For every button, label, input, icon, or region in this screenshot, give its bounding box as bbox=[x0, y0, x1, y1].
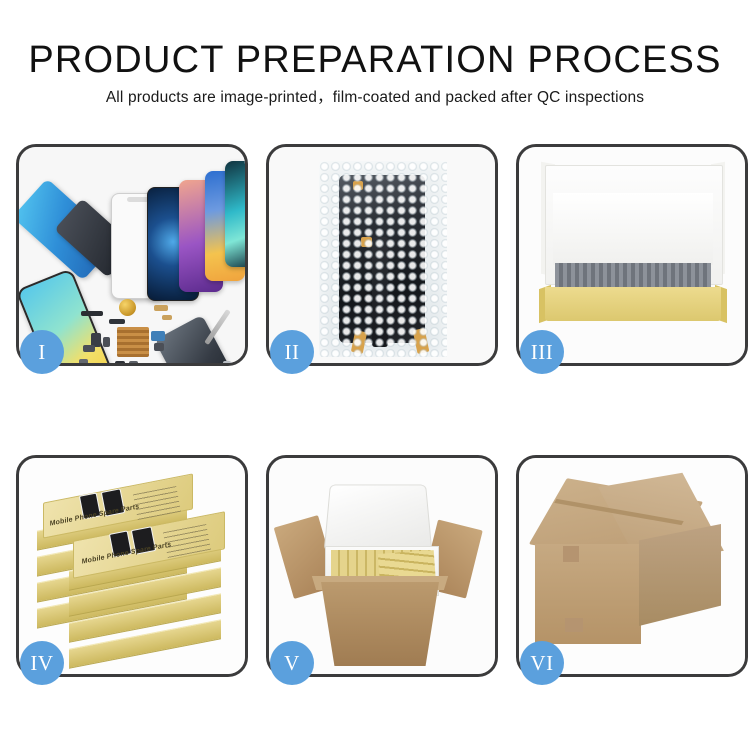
notch-shape bbox=[127, 197, 149, 202]
box-front-panel bbox=[545, 287, 721, 321]
step-badge-2: II bbox=[270, 330, 314, 374]
sealed-carton-scene bbox=[519, 458, 745, 674]
spare-part bbox=[129, 361, 138, 363]
step-badge-4: IV bbox=[20, 641, 64, 685]
step-badge-6: VI bbox=[520, 641, 564, 685]
step-image-4: Mobile Phone Spare Parts Mobile Phone Sp… bbox=[19, 458, 245, 674]
carton-tape-mark bbox=[563, 546, 579, 562]
step-image-5 bbox=[269, 458, 495, 674]
teal-screen-image bbox=[225, 161, 245, 267]
step-image-2 bbox=[269, 147, 495, 363]
steps-grid: I II bbox=[0, 0, 750, 750]
spare-part bbox=[83, 345, 95, 352]
spare-part bbox=[151, 331, 165, 341]
spare-part bbox=[81, 311, 103, 316]
box-stack: Mobile Phone Spare Parts Mobile Phone Sp… bbox=[25, 472, 245, 672]
step-image-3 bbox=[519, 147, 745, 363]
carton-body bbox=[313, 582, 447, 666]
bubble-bag-image bbox=[319, 161, 447, 357]
carton-left-face bbox=[535, 544, 641, 644]
spare-part bbox=[79, 359, 88, 363]
styrofoam-lid-image bbox=[324, 485, 433, 552]
bubble-texture bbox=[319, 161, 447, 357]
phone-parts-scene bbox=[19, 147, 245, 363]
product-preparation-infographic: PRODUCT PREPARATION PROCESS All products… bbox=[0, 0, 750, 750]
spare-part bbox=[154, 343, 164, 351]
step-badge-5: V bbox=[270, 641, 314, 685]
spare-part bbox=[162, 315, 172, 320]
step-image-1 bbox=[19, 147, 245, 363]
spare-part bbox=[115, 361, 125, 363]
bubble-wrap-scene bbox=[269, 147, 495, 363]
carton-styrofoam-scene bbox=[269, 458, 495, 674]
step-badge-1: I bbox=[20, 330, 64, 374]
step-badge-3: III bbox=[520, 330, 564, 374]
open-box-foam-scene bbox=[519, 147, 745, 363]
phone-backplate-image bbox=[154, 315, 237, 363]
carton-tape-mark bbox=[565, 618, 583, 632]
spare-part bbox=[103, 337, 110, 347]
spare-part bbox=[154, 305, 168, 311]
white-foam-image bbox=[553, 193, 713, 265]
connector-grid-image bbox=[117, 327, 149, 357]
spare-part bbox=[223, 361, 231, 363]
stacked-boxes-scene: Mobile Phone Spare Parts Mobile Phone Sp… bbox=[19, 458, 245, 674]
spare-part bbox=[109, 319, 125, 324]
gold-chip-image bbox=[119, 299, 136, 316]
carton-right-face bbox=[639, 524, 721, 626]
step-image-6 bbox=[519, 458, 745, 674]
